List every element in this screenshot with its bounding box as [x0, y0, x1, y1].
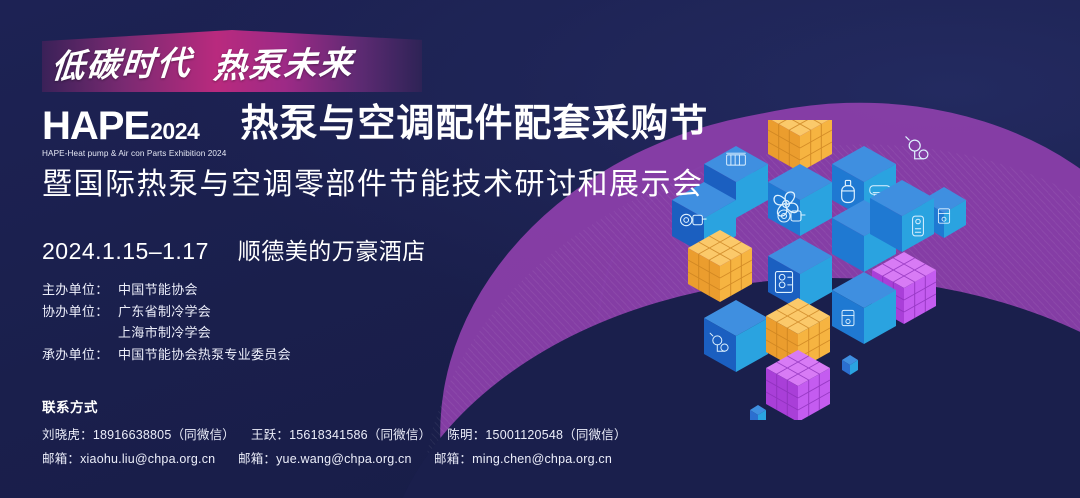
contact-phone[interactable]: 15618341586	[289, 428, 368, 442]
event-date: 2024.1.15–1.17	[42, 238, 209, 264]
floating-cube-small	[842, 355, 858, 375]
main-title: 热泵与空调配件配套采购节	[240, 104, 708, 144]
organizer-row: 协办单位： 上海市制冷学会	[42, 322, 291, 344]
contact-name: 陈明：	[447, 428, 485, 442]
contact-person-1: 刘晓虎：18916638805（同微信）	[42, 428, 235, 442]
contact-name: 王跃：	[251, 428, 289, 442]
contact-phone[interactable]: 18916638805	[93, 428, 172, 442]
organizer-row: 主办单位： 中国节能协会	[42, 279, 291, 301]
floating-cube-small	[750, 405, 766, 420]
organizer-value: 中国节能协会	[118, 279, 198, 301]
email-address[interactable]: xiaohu.liu@chpa.org.cn	[80, 452, 215, 466]
contact-person-2: 王跃：15618341586（同微信）	[251, 428, 431, 442]
contact-wechat-note: （同微信）	[563, 428, 627, 442]
organizer-value: 广东省制冷学会	[118, 301, 211, 323]
email-label: 邮箱：	[42, 452, 80, 466]
equipment-icon-floating	[906, 137, 928, 159]
cube-blue-center-fan	[768, 164, 832, 236]
organizer-label: 协办单位：	[42, 301, 118, 323]
organizer-label: 承办单位：	[42, 344, 118, 366]
contact-email-row: 邮箱：xiaohu.liu@chpa.org.cn 邮箱：yue.wang@ch…	[42, 448, 630, 467]
contact-phone-row: 刘晓虎：18916638805（同微信）王跃：15618341586（同微信）陈…	[42, 424, 643, 443]
contact-email-2: 邮箱：yue.wang@chpa.org.cn	[238, 448, 434, 467]
hape-logo-main: HAPE 2024	[42, 106, 226, 146]
contact-wechat-note: （同微信）	[368, 428, 432, 442]
email-label: 邮箱：	[434, 452, 472, 466]
organizer-list: 主办单位： 中国节能协会 协办单位： 广东省制冷学会 协办单位： 上海市制冷学会…	[42, 279, 291, 365]
slogan-text: 低碳时代 热泵未来	[52, 33, 422, 91]
contact-person-3: 陈明：15001120548（同微信）	[447, 428, 626, 442]
contact-email-1: 邮箱：xiaohu.liu@chpa.org.cn	[42, 448, 238, 467]
organizer-row: 承办单位： 中国节能协会热泵专业委员会	[42, 344, 291, 366]
sub-title: 暨国际热泵与空调零部件节能技术研讨和展示会	[42, 168, 704, 202]
organizer-label: 主办单位：	[42, 279, 118, 301]
title-row: HAPE 2024 HAPE-Heat pump & Air con Parts…	[42, 104, 708, 158]
date-venue-line: 2024.1.15–1.17 顺德美的万豪酒店	[42, 232, 426, 266]
cube-blue-lower-left	[704, 300, 768, 372]
contact-heading: 联系方式	[42, 396, 98, 416]
isometric-equipment-cubes	[660, 120, 1020, 420]
slogan-part-2: 热泵未来	[212, 36, 356, 88]
contact-phone[interactable]: 15001120548	[485, 428, 563, 442]
hape-year: 2024	[150, 120, 199, 143]
cube-purple-bottom	[766, 350, 830, 420]
email-label: 邮箱：	[238, 452, 276, 466]
conference-banner: 低碳时代 热泵未来 HAPE 2024 HAPE-Heat pump & Air…	[0, 0, 1080, 498]
organizer-value: 中国节能协会热泵专业委员会	[118, 344, 291, 366]
slogan-part-1: 低碳时代	[50, 36, 194, 88]
event-venue: 顺德美的万豪酒店	[238, 238, 426, 264]
contact-name: 刘晓虎：	[42, 428, 93, 442]
contact-email-3: 邮箱：ming.chen@chpa.org.cn	[434, 448, 630, 467]
organizer-row: 协办单位： 广东省制冷学会	[42, 301, 291, 323]
hape-english-subtitle: HAPE-Heat pump & Air con Parts Exhibitio…	[42, 149, 226, 158]
contact-wechat-note: （同微信）	[171, 428, 235, 442]
hape-wordmark: HAPE	[42, 106, 149, 146]
email-address[interactable]: yue.wang@chpa.org.cn	[276, 452, 412, 466]
organizer-value: 上海市制冷学会	[118, 322, 211, 344]
hape-logo: HAPE 2024 HAPE-Heat pump & Air con Parts…	[42, 104, 226, 158]
cube-cluster-svg	[660, 120, 1020, 420]
email-address[interactable]: ming.chen@chpa.org.cn	[472, 452, 612, 466]
